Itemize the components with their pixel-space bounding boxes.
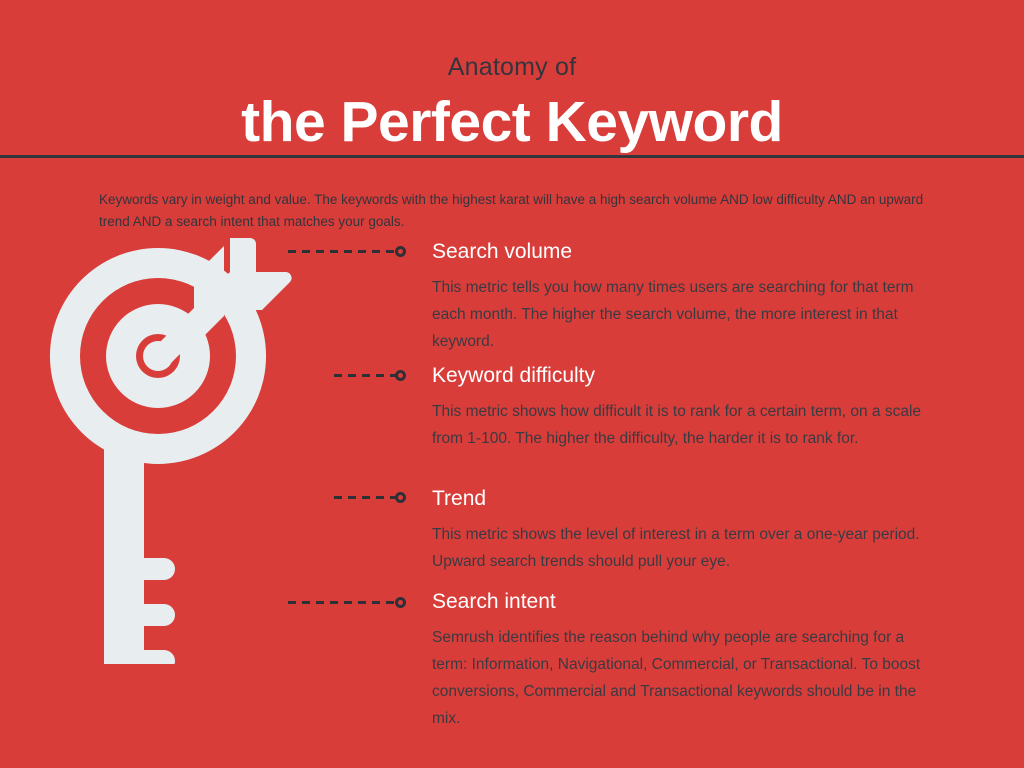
section-search-intent: Search intent Semrush identifies the rea…: [432, 588, 940, 732]
eyebrow-text: Anatomy of: [0, 52, 1024, 82]
connector-endpoint-dot: [395, 597, 406, 608]
connector-endpoint-dot: [395, 370, 406, 381]
connector-search-volume: [288, 244, 406, 258]
section-search-volume: Search volume This metric tells you how …: [432, 238, 940, 355]
connector-endpoint-dot: [395, 246, 406, 257]
section-body: This metric tells you how many times use…: [432, 274, 940, 355]
section-trend: Trend This metric shows the level of int…: [432, 485, 940, 575]
connector-search-intent: [288, 595, 406, 609]
section-heading: Trend: [432, 485, 940, 513]
section-heading: Search volume: [432, 238, 940, 266]
intro-paragraph: Keywords vary in weight and value. The k…: [99, 189, 939, 233]
target-key-icon: [34, 232, 304, 664]
arrow-head: [230, 238, 292, 310]
connector-endpoint-dot: [395, 492, 406, 503]
header-divider: [0, 155, 1024, 158]
connector-trend: [334, 490, 406, 504]
key-shaft: [104, 436, 175, 664]
connector-dash: [288, 250, 396, 253]
section-heading: Search intent: [432, 588, 940, 616]
section-keyword-difficulty: Keyword difficulty This metric shows how…: [432, 362, 940, 452]
connector-dash: [288, 601, 396, 604]
connector-keyword-difficulty: [334, 368, 406, 382]
connector-dash: [334, 374, 396, 377]
infographic-poster: Anatomy of the Perfect Keyword Keywords …: [0, 0, 1024, 768]
section-body: Semrush identifies the reason behind why…: [432, 624, 940, 732]
section-heading: Keyword difficulty: [432, 362, 940, 390]
poster-header: Anatomy of the Perfect Keyword: [0, 0, 1024, 158]
section-body: This metric shows how difficult it is to…: [432, 398, 940, 452]
page-title: the Perfect Keyword: [0, 90, 1024, 154]
section-body: This metric shows the level of interest …: [432, 521, 940, 575]
connector-dash: [334, 496, 396, 499]
